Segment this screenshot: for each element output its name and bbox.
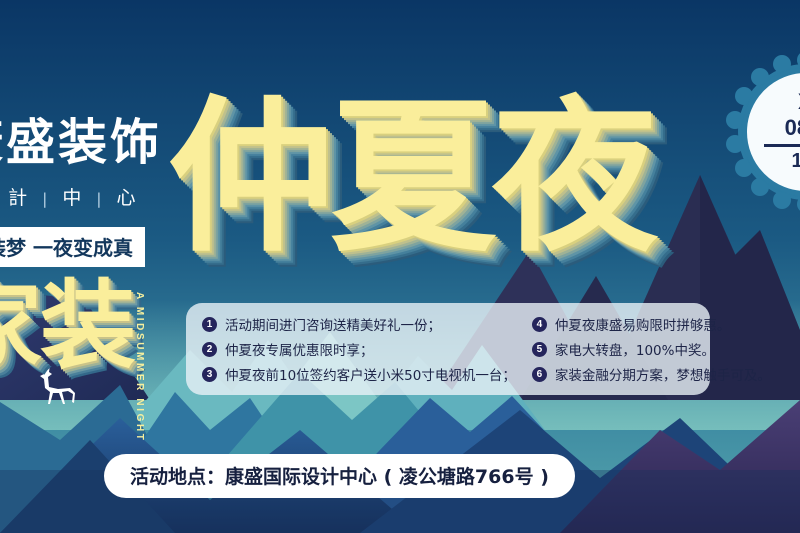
benefit-item: 3 仲夏夜前10位签约客户送小米50寸电视机一台； [202, 364, 516, 384]
brand-name: 康盛装饰 [0, 118, 194, 169]
benefits-column-left: 1 活动期间进门咨询送精美好礼一份； 2 仲夏夜专属优惠限时享； 3 仲夏夜前1… [202, 312, 516, 386]
brand-sub-separator-2: | [91, 190, 108, 208]
benefit-number-badge: 5 [532, 342, 547, 357]
benefit-text: 家装金融分期方案，梦想触手可及。 [555, 364, 771, 384]
benefit-text: 家电大转盘，100%中奖。 [555, 339, 715, 359]
main-headline: 仲夏夜 [168, 96, 654, 262]
benefit-number-badge: 2 [202, 342, 217, 357]
benefit-item: 2 仲夏夜专属优惠限时享； [202, 339, 516, 359]
secondary-headline: 家装 [0, 278, 134, 374]
vertical-english-caption: A MIDSUMMER NIGHT [134, 292, 145, 443]
badge-time: 18: [792, 150, 800, 173]
date-badge: X 08/2 18: [726, 52, 800, 217]
brand-sub-part-1: 計 [8, 187, 29, 209]
benefits-column-right: 4 仲夏夜康盛易购限时拼够惠。 5 家电大转盘，100%中奖。 6 家装金融分期… [532, 312, 771, 386]
brand-subtitle: 設 | 計 | 中 | 心 [0, 183, 194, 210]
event-address-pill: 活动地点：康盛国际设计中心 ( 凌公塘路766号 ) [104, 454, 575, 498]
poster-canvas: 康盛装饰 設 | 計 | 中 | 心 家装梦 一夜变成真 家装 仲夏夜 A MI… [0, 0, 800, 533]
brand-sub-separator-1: | [37, 190, 54, 208]
benefits-panel: 1 活动期间进门咨询送精美好礼一份； 2 仲夏夜专属优惠限时享； 3 仲夏夜前1… [186, 303, 710, 395]
benefit-text: 活动期间进门咨询送精美好礼一份； [225, 314, 441, 334]
benefit-number-badge: 3 [202, 367, 217, 382]
benefit-item: 6 家装金融分期方案，梦想触手可及。 [532, 364, 771, 384]
benefit-number-badge: 4 [532, 317, 547, 332]
brand-slogan: 家装梦 一夜变成真 [0, 227, 145, 267]
benefit-text: 仲夏夜专属优惠限时享； [225, 339, 374, 359]
benefit-text: 仲夏夜康盛易购限时拼够惠。 [555, 314, 731, 334]
benefit-number-badge: 1 [202, 317, 217, 332]
brand-sub-part-2: 中 [62, 187, 83, 209]
benefit-text: 仲夏夜前10位签约客户送小米50寸电视机一台； [225, 364, 516, 384]
benefit-item: 1 活动期间进门咨询送精美好礼一份； [202, 314, 516, 334]
benefit-item: 5 家电大转盘，100%中奖。 [532, 339, 771, 359]
badge-date: 08/2 [785, 115, 800, 141]
benefit-item: 4 仲夏夜康盛易购限时拼够惠。 [532, 314, 771, 334]
badge-divider [764, 144, 800, 147]
brand-block: 康盛装饰 設 | 計 | 中 | 心 家装梦 一夜变成真 [0, 118, 194, 267]
benefit-number-badge: 6 [532, 367, 547, 382]
brand-sub-part-3: 心 [117, 187, 138, 209]
